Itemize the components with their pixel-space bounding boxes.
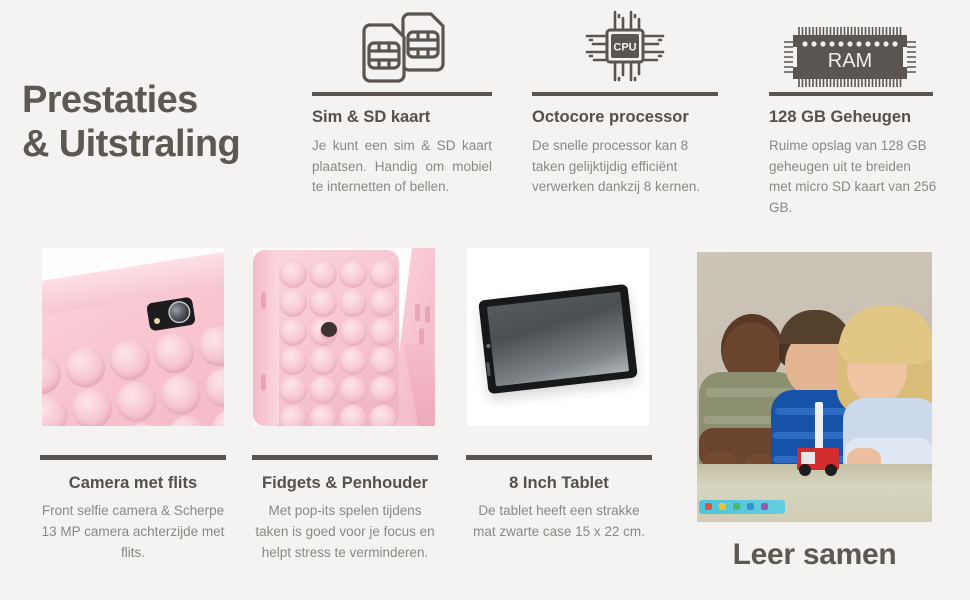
pop-it-bubble: [339, 260, 367, 288]
pop-it-bubble: [339, 347, 367, 375]
pop-it-bubble: [309, 347, 337, 375]
cpu-chip-icon-wrap: CPU: [532, 0, 718, 92]
feature-title-sim-sd: Sim & SD kaart: [312, 108, 492, 127]
caption-title-camera: Camera met flits: [40, 474, 226, 493]
pop-it-bubble: [279, 289, 307, 317]
caption-body-tablet: De tablet heeft een strakke mat zwarte c…: [466, 501, 652, 543]
pop-it-bubble: [339, 376, 367, 404]
page-title-line-2: & Uitstraling: [22, 122, 302, 166]
promo-title: Leer samen: [697, 538, 932, 572]
caption-column-tablet: 8 Inch Tablet De tablet heeft een strakk…: [466, 455, 652, 543]
divider-sim-sd: [312, 92, 492, 96]
cpu-chip-icon: CPU: [577, 2, 673, 90]
feature-title-processor: Octocore processor: [532, 108, 718, 127]
pop-it-bubble: [202, 365, 224, 411]
pop-it-bubble: [107, 337, 153, 383]
pop-it-bubble: [120, 420, 166, 426]
feature-title-memory: 128 GB Geheugen: [769, 108, 933, 127]
pop-it-bubble: [309, 405, 337, 426]
divider-memory: [769, 92, 933, 96]
pop-it-bubble: [42, 393, 70, 426]
divider-tablet: [466, 455, 652, 460]
sim-card-icon-wrap: [312, 0, 492, 92]
ram-chip-icon: RAM: [781, 24, 921, 90]
sim-card-icon: [346, 6, 458, 90]
pop-it-bubble: [158, 372, 204, 418]
pop-it-bubble: [279, 260, 307, 288]
pop-it-bubble: [339, 289, 367, 317]
pop-it-bubble: [42, 351, 64, 397]
black-tablet-photo: [467, 248, 649, 426]
feature-body-sim-sd: Je kunt een sim & SD kaart plaatsen. Han…: [312, 136, 492, 198]
pop-it-bubble: [279, 376, 307, 404]
pop-it-bubble: [369, 260, 397, 288]
pop-it-bubble: [279, 318, 307, 346]
pop-it-bubble: [369, 289, 397, 317]
pop-it-bubble: [196, 323, 224, 369]
caption-body-fidget: Met pop-its spelen tijdens taken is goed…: [252, 501, 438, 563]
pop-it-bubble: [209, 406, 224, 426]
pop-it-bubble: [69, 386, 115, 426]
pop-it-bubble: [309, 260, 337, 288]
caption-column-camera: Camera met flits Front selfie camera & S…: [40, 455, 226, 563]
caption-title-fidget: Fidgets & Penhouder: [252, 474, 438, 493]
page-title: Prestaties & Uitstraling: [22, 78, 302, 166]
caption-title-tablet: 8 Inch Tablet: [466, 474, 652, 493]
ram-chip-icon-wrap: RAM: [769, 0, 933, 92]
pink-pop-it-case-penholder-photo: [253, 248, 435, 426]
pop-it-bubble: [339, 405, 367, 426]
three-children-playing-photo: [697, 252, 932, 522]
pop-it-bubble: [369, 318, 397, 346]
toy-tablet: [699, 500, 785, 514]
feature-column-sim-sd: Sim & SD kaart Je kunt een sim & SD kaar…: [312, 0, 492, 198]
pink-pop-it-case-camera-photo: [42, 248, 224, 426]
feature-column-processor: CPU Octocore processor De snelle process…: [532, 0, 718, 198]
pop-it-bubble: [151, 330, 197, 376]
pop-it-bubble: [369, 376, 397, 404]
pop-it-bubble: [279, 347, 307, 375]
feature-body-memory: Ruime opslag van 128 GB geheugen uit te …: [769, 136, 937, 218]
cpu-icon-label: CPU: [613, 42, 636, 54]
caption-body-camera: Front selfie camera & Scherpe 13 MP came…: [40, 501, 226, 563]
divider-processor: [532, 92, 718, 96]
pop-it-bubble: [113, 379, 159, 425]
divider-camera: [40, 455, 226, 460]
pop-it-bubble: [164, 413, 210, 426]
pop-it-bubble: [62, 344, 108, 390]
ram-icon-label: RAM: [828, 50, 872, 72]
pop-it-bubble: [309, 376, 337, 404]
page-title-line-1: Prestaties: [22, 79, 198, 121]
pop-it-bubble: [309, 289, 337, 317]
pop-it-bubble: [369, 347, 397, 375]
promo-block: Leer samen: [697, 252, 932, 572]
feature-column-memory: RAM 128 GB Geheugen Ruime opslag van 128…: [769, 0, 933, 218]
feature-body-processor: De snelle processor kan 8 taken gelijkti…: [532, 136, 710, 198]
divider-fidget: [252, 455, 438, 460]
pop-it-bubble: [369, 405, 397, 426]
product-feature-banner: Prestaties & Uitstraling Sim & SD kaart …: [0, 0, 970, 600]
pop-it-bubble: [339, 318, 367, 346]
pop-it-bubble: [279, 405, 307, 426]
caption-column-fidget: Fidgets & Penhouder Met pop-its spelen t…: [252, 455, 438, 563]
